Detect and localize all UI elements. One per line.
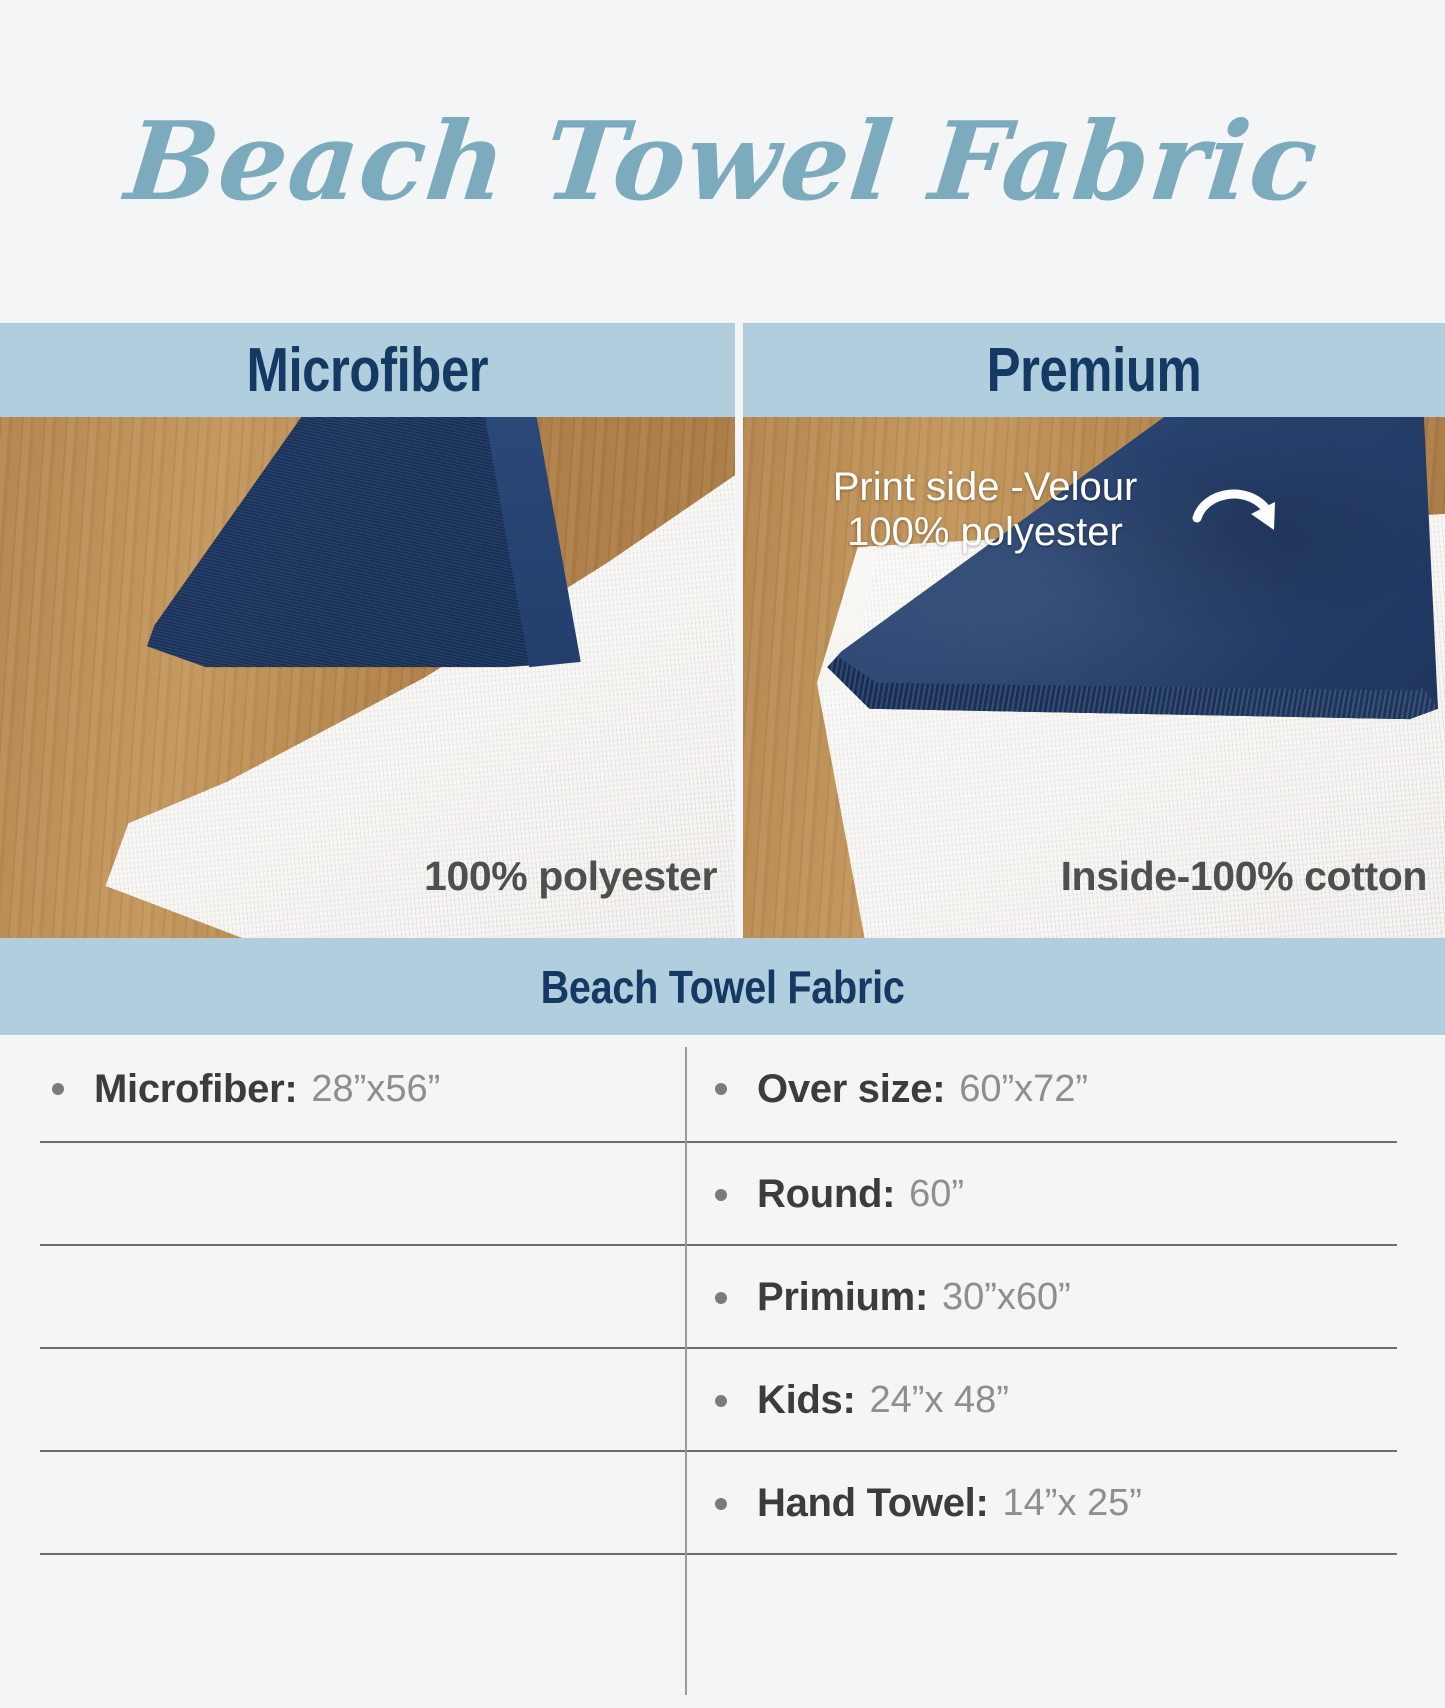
section-bar-title: Beach Towel Fabric <box>541 960 905 1014</box>
table-row: Round: 60” <box>685 1143 1445 1246</box>
bullet-icon <box>715 1083 727 1095</box>
overlay-note-print-side: Print side -Velour 100% polyester <box>785 465 1185 555</box>
bullet-icon <box>715 1292 727 1304</box>
section-bar: Beach Towel Fabric <box>0 938 1445 1035</box>
column-vertical-divider <box>685 1047 687 1695</box>
table-row <box>0 1143 685 1246</box>
bullet-icon <box>715 1498 727 1510</box>
infographic-page: Beach Towel Fabric Microfiber Premium 10… <box>0 0 1445 1708</box>
column-header-premium: Premium <box>743 323 1445 417</box>
bullet-icon <box>715 1395 727 1407</box>
row-divider <box>40 1553 685 1555</box>
spec-label: Microfiber: <box>94 1067 297 1112</box>
spec-label: Over size: <box>757 1067 945 1112</box>
curved-arrow-down-right-icon <box>1191 472 1301 562</box>
photo-comparison-row: 100% polyester Print side -Velour 100% p… <box>0 417 1445 938</box>
bullet-icon <box>52 1083 64 1095</box>
bullet-icon <box>715 1189 727 1201</box>
spec-column-microfiber: Microfiber: 28”x56” <box>0 1035 685 1708</box>
row-divider <box>685 1553 1397 1555</box>
table-row <box>0 1452 685 1555</box>
photo-divider-gap <box>735 417 743 938</box>
size-spec-table: Microfiber: 28”x56” <box>0 1035 1445 1708</box>
spec-value: 14”x 25” <box>1003 1482 1142 1525</box>
column-header-microfiber-label: Microfiber <box>247 335 489 406</box>
photo-caption-left: 100% polyester <box>424 853 717 900</box>
spec-label: Kids: <box>757 1378 856 1423</box>
table-row: Hand Towel: 14”x 25” <box>685 1452 1445 1555</box>
page-title: Beach Towel Fabric <box>122 108 1323 216</box>
column-header-premium-label: Premium <box>987 335 1202 406</box>
column-header-bar: Microfiber Premium <box>0 323 1445 417</box>
title-zone: Beach Towel Fabric <box>0 0 1445 323</box>
spec-value: 60”x72” <box>959 1068 1088 1111</box>
header-divider-gap <box>735 323 743 417</box>
photo-premium-towel: Print side -Velour 100% polyester Inside… <box>743 417 1445 938</box>
overlay-note-line-1: Print side -Velour <box>833 465 1138 509</box>
spec-value: 60” <box>909 1173 964 1216</box>
table-row: Kids: 24”x 48” <box>685 1349 1445 1452</box>
table-row: Primium: 30”x60” <box>685 1246 1445 1349</box>
spec-column-premium: Over size: 60”x72” Round: 60” Primium: 3… <box>685 1035 1445 1708</box>
column-header-microfiber: Microfiber <box>0 323 735 417</box>
spec-value: 30”x60” <box>942 1276 1071 1319</box>
spec-value: 24”x 48” <box>870 1379 1009 1422</box>
table-row: Over size: 60”x72” <box>685 1035 1445 1143</box>
photo-caption-right: Inside-100% cotton <box>1061 853 1427 900</box>
spec-label: Primium: <box>757 1275 928 1320</box>
spec-value: 28”x56” <box>311 1068 440 1111</box>
table-row <box>0 1349 685 1452</box>
table-row <box>0 1246 685 1349</box>
spec-label: Round: <box>757 1172 895 1217</box>
photo-microfiber-towel: 100% polyester <box>0 417 735 938</box>
table-row: Microfiber: 28”x56” <box>0 1035 685 1143</box>
spec-label: Hand Towel: <box>757 1481 989 1526</box>
overlay-note-line-2: 100% polyester <box>785 510 1185 555</box>
